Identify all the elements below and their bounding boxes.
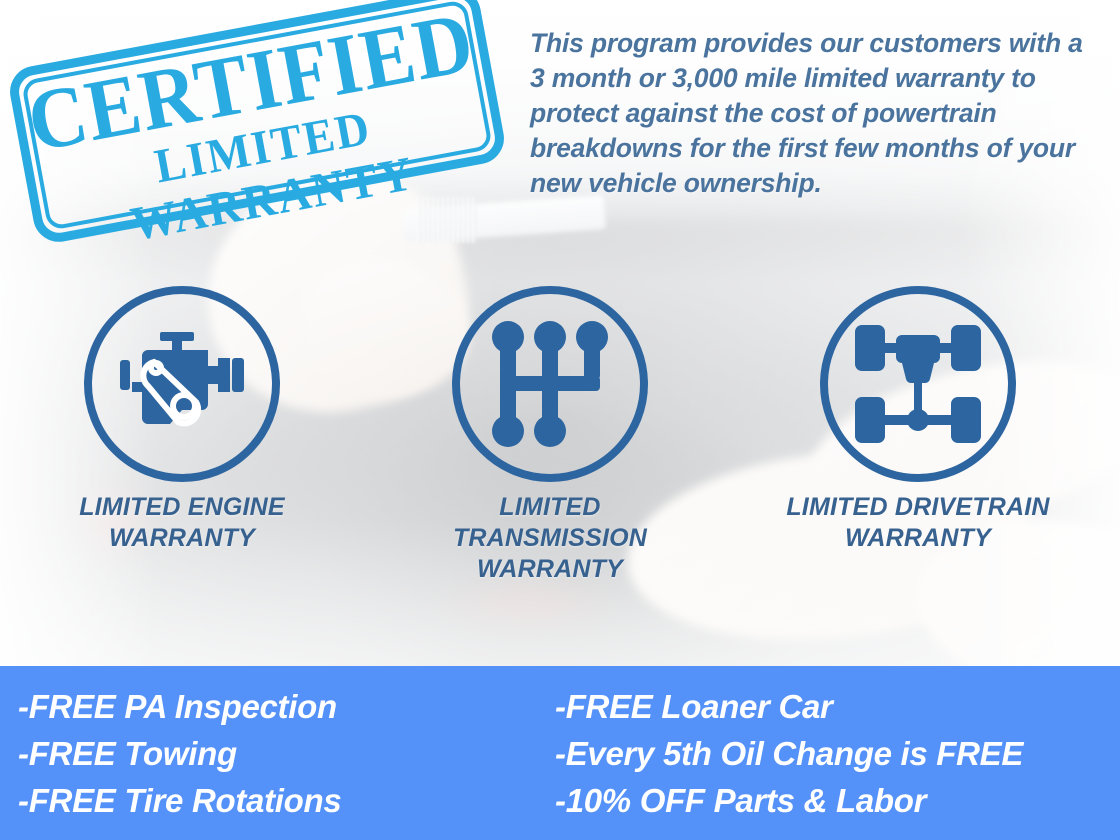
- transmission-icon-circle: [452, 286, 648, 482]
- feature-label-engine-line1: LIMITED ENGINE: [79, 493, 285, 521]
- perks-banner: -FREE PA Inspection -FREE Towing -FREE T…: [0, 666, 1120, 840]
- feature-label-engine-line2: WARRANTY: [109, 524, 255, 552]
- engine-icon-circle: [84, 286, 280, 482]
- feature-label-drivetrain-line2: WARRANTY: [845, 524, 991, 552]
- perk-item: -Every 5th Oil Change is FREE: [555, 730, 1023, 777]
- drivetrain-icon: [855, 323, 981, 445]
- feature-label-drivetrain-line1: LIMITED DRIVETRAIN: [786, 493, 1049, 521]
- feature-limited-transmission-warranty: LIMITED TRANSMISSION WARRANTY: [400, 286, 700, 585]
- perks-column-right: -FREE Loaner Car -Every 5th Oil Change i…: [545, 683, 1023, 824]
- feature-label-engine: LIMITED ENGINE WARRANTY: [32, 492, 332, 554]
- engine-icon: [120, 332, 244, 436]
- transmission-shifter-icon: [492, 321, 608, 447]
- perk-item: -FREE PA Inspection: [18, 683, 545, 730]
- feature-label-transmission-line2: WARRANTY: [477, 555, 623, 583]
- feature-label-transmission: LIMITED TRANSMISSION WARRANTY: [400, 492, 700, 585]
- coverage-features-row: LIMITED ENGINE WARRANTY: [0, 286, 1120, 576]
- feature-limited-drivetrain-warranty: LIMITED DRIVETRAIN WARRANTY: [768, 286, 1068, 554]
- feature-label-drivetrain: LIMITED DRIVETRAIN WARRANTY: [768, 492, 1068, 554]
- program-description-paragraph: This program provides our customers with…: [530, 26, 1090, 201]
- drivetrain-icon-circle: [820, 286, 1016, 482]
- perk-item: -10% OFF Parts & Labor: [555, 777, 1023, 824]
- feature-limited-engine-warranty: LIMITED ENGINE WARRANTY: [32, 286, 332, 554]
- feature-label-transmission-line1: LIMITED TRANSMISSION: [453, 493, 647, 552]
- perk-item: -FREE Tire Rotations: [18, 777, 545, 824]
- perk-item: -FREE Loaner Car: [555, 683, 1023, 730]
- warranty-poster: CERTIFIED LIMITED WARRANTY This program …: [0, 0, 1120, 840]
- perks-column-left: -FREE PA Inspection -FREE Towing -FREE T…: [0, 683, 545, 824]
- perk-item: -FREE Towing: [18, 730, 545, 777]
